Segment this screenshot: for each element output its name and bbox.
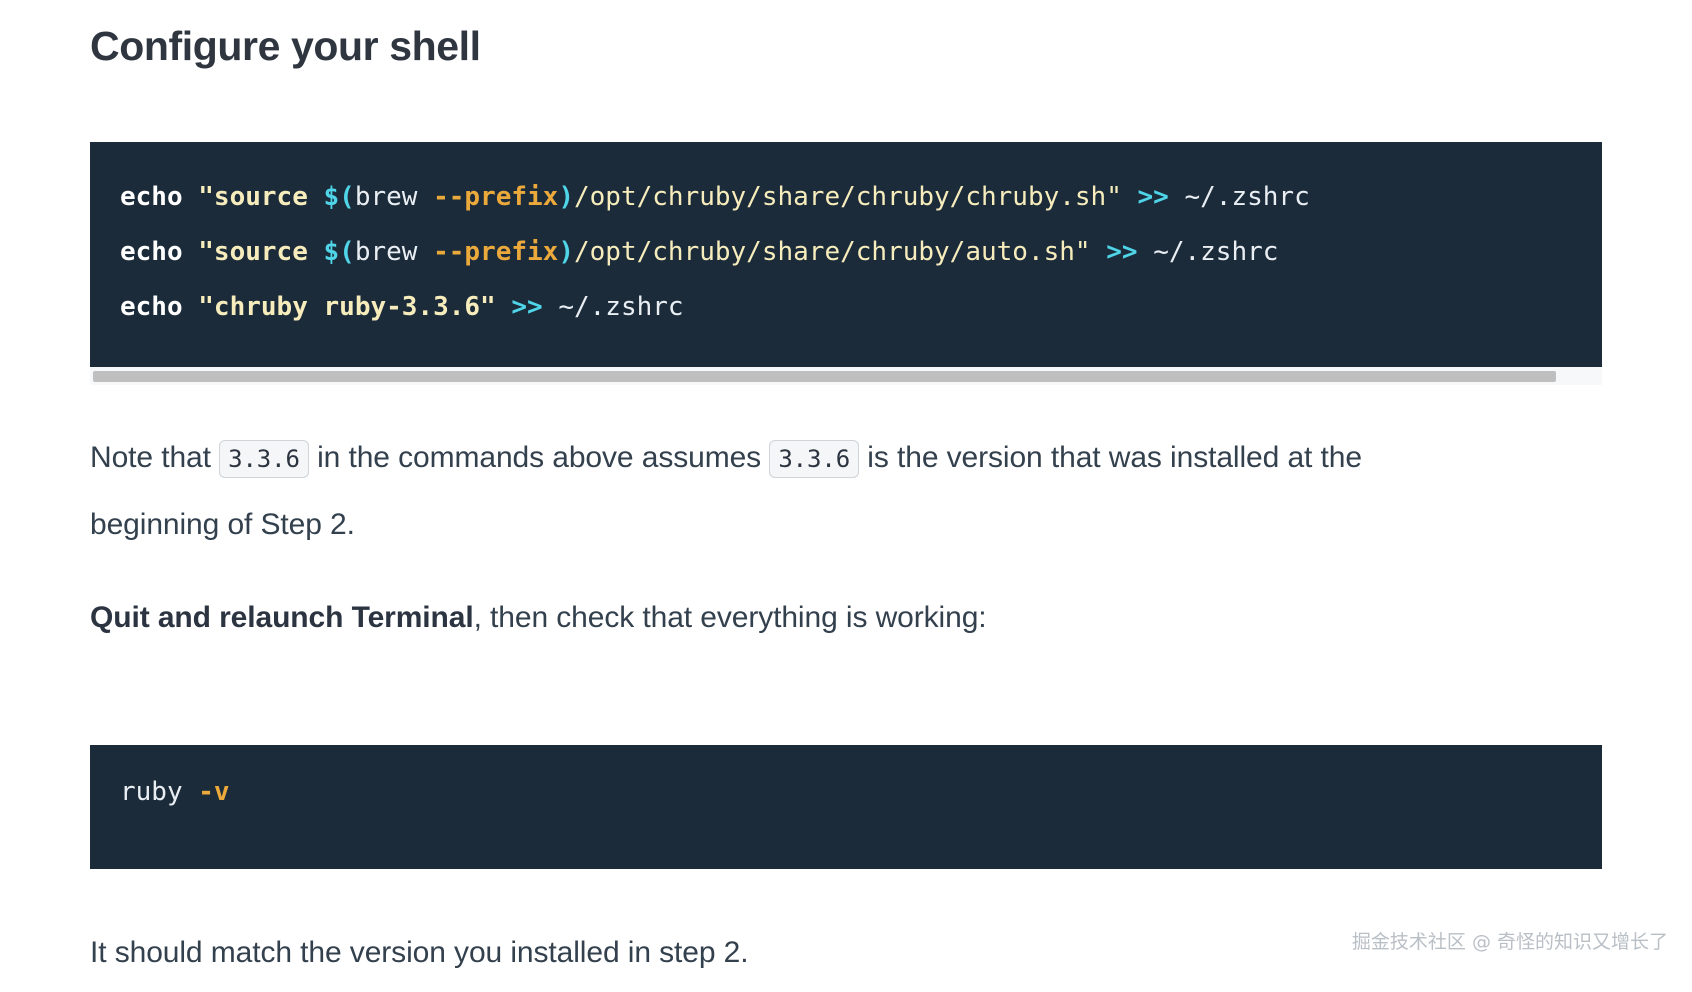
code-block-shell-config[interactable]: echo "source $(brew --prefix)/opt/chruby… [90, 142, 1602, 367]
code-token: --prefix [433, 237, 558, 267]
code-line: echo "chruby ruby-3.3.6" >> ~/.zshrc [120, 280, 1602, 335]
relaunch-rest-text: , then check that everything is working: [474, 601, 987, 634]
code-token: "source [198, 182, 323, 212]
code-token: ~/.zshrc [1185, 182, 1310, 212]
code-token: --prefix [433, 182, 558, 212]
code-token: echo [120, 182, 198, 212]
code-token: ruby [120, 777, 198, 807]
closing-text: It should match the version you installe… [90, 936, 749, 969]
code-token: $( [324, 182, 355, 212]
code-token: /opt/chruby/share/chruby/chruby.sh" [574, 182, 1122, 212]
note-text-part-2: in the commands above assumes [309, 441, 769, 474]
code-token: ~/.zshrc [1153, 237, 1278, 267]
inline-code-version-1: 3.3.6 [219, 440, 309, 478]
code-token: "chruby ruby-3.3.6" [198, 292, 495, 322]
code-token: brew [355, 237, 433, 267]
code-line: echo "source $(brew --prefix)/opt/chruby… [120, 225, 1602, 280]
code-token: >> [1091, 237, 1154, 267]
code-block-ruby-version[interactable]: ruby -v [90, 745, 1602, 869]
document-page: Configure your shell echo "source $(brew… [0, 0, 1692, 992]
code-token: /opt/chruby/share/chruby/auto.sh" [574, 237, 1091, 267]
code-token: ) [558, 182, 574, 212]
relaunch-paragraph: Quit and relaunch Terminal, then check t… [90, 585, 1490, 651]
closing-paragraph: It should match the version you installe… [90, 920, 1490, 986]
code-token: echo [120, 237, 198, 267]
code-token: echo [120, 292, 198, 322]
code-token: "source [198, 237, 323, 267]
code-token: >> [1122, 182, 1185, 212]
page-title: Configure your shell [90, 22, 481, 71]
note-paragraph: Note that 3.3.6 in the commands above as… [90, 425, 1490, 558]
note-text-part-1: Note that [90, 441, 219, 474]
watermark: 掘金技术社区 @ 奇怪的知识又增长了 [1352, 927, 1668, 954]
code-token: >> [496, 292, 559, 322]
code-token: brew [355, 182, 433, 212]
code-token: ~/.zshrc [558, 292, 683, 322]
code-line: ruby -v [120, 775, 1602, 809]
code-token: $( [324, 237, 355, 267]
code-token: -v [198, 777, 229, 807]
inline-code-version-2: 3.3.6 [769, 440, 859, 478]
code-token: ) [558, 237, 574, 267]
code-block-scrollbar-thumb[interactable] [93, 371, 1556, 382]
relaunch-bold-text: Quit and relaunch Terminal [90, 601, 474, 634]
code-line: echo "source $(brew --prefix)/opt/chruby… [120, 170, 1602, 225]
